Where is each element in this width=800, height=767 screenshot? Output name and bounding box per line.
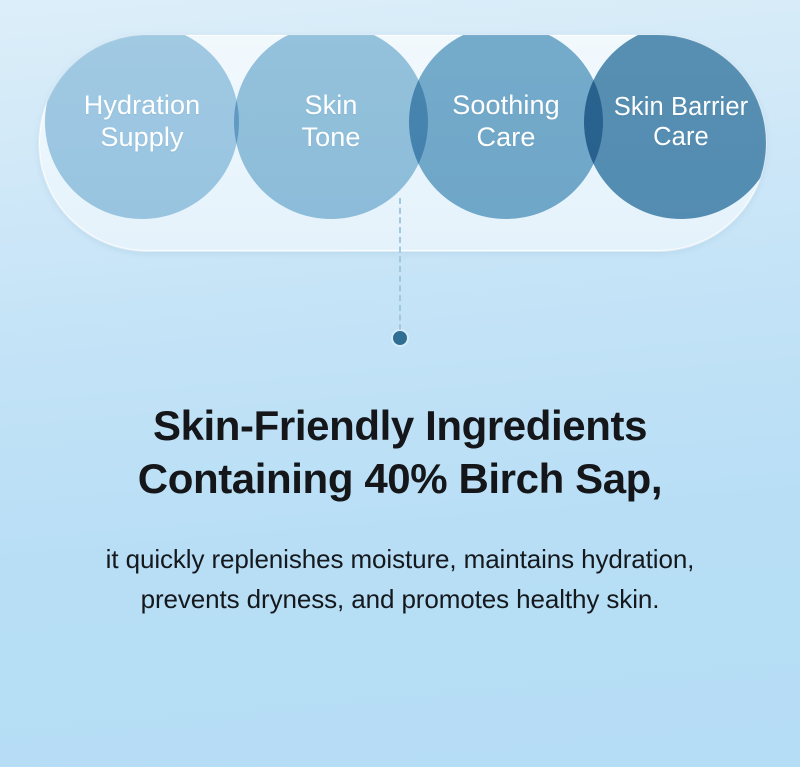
venn-labels-group: Hydration Supply Skin Tone Soothing Care… <box>39 35 766 251</box>
dashed-line <box>399 198 401 340</box>
venn-label-skin-barrier-care: Skin Barrier Care <box>584 34 767 219</box>
venn-label-skin-tone: Skin Tone <box>234 34 428 219</box>
venn-label-line: Care <box>653 122 709 152</box>
venn-label-line: Supply <box>100 122 183 154</box>
venn-label-line: Skin <box>305 90 358 122</box>
venn-label-line: Skin Barrier <box>614 92 748 122</box>
body-line-1: it quickly replenishes moisture, maintai… <box>0 540 800 580</box>
body-line-2: prevents dryness, and promotes healthy s… <box>0 580 800 620</box>
headline-line-2: Containing 40% Birch Sap, <box>0 453 800 506</box>
venn-label-hydration-supply: Hydration Supply <box>45 34 239 219</box>
venn-label-line: Hydration <box>84 90 200 122</box>
venn-label-line: Soothing <box>452 90 559 122</box>
body-description: it quickly replenishes moisture, maintai… <box>0 540 800 619</box>
venn-label-line: Tone <box>302 122 361 154</box>
infographic-stage: Hydration Supply Skin Tone Soothing Care… <box>0 0 800 767</box>
connector-dot-icon <box>393 331 407 345</box>
venn-label-soothing-care: Soothing Care <box>409 34 603 219</box>
connector-pointer <box>398 198 402 344</box>
headline-line-1: Skin-Friendly Ingredients <box>0 400 800 453</box>
venn-label-line: Care <box>477 122 536 154</box>
venn-capsule-container: Hydration Supply Skin Tone Soothing Care… <box>38 34 767 252</box>
page-title: Skin-Friendly Ingredients Containing 40%… <box>0 400 800 506</box>
